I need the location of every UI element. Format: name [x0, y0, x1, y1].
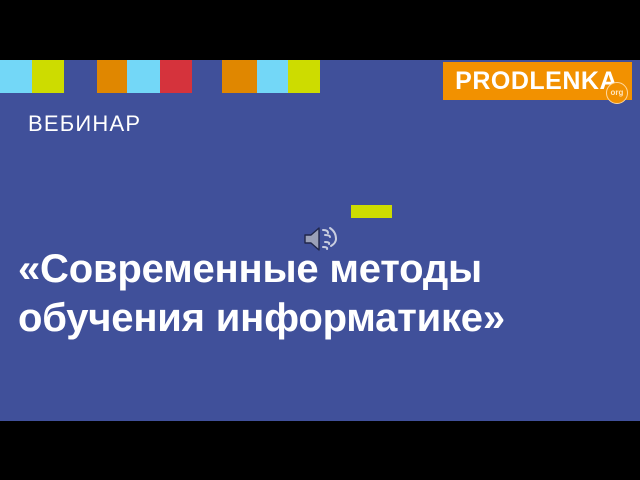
video-slide-frame: PRODLENKA org ВЕБИНАР «Современные метод… — [0, 0, 640, 480]
logo-org-badge: org — [606, 82, 628, 104]
presentation-slide: PRODLENKA org ВЕБИНАР «Современные метод… — [0, 60, 640, 421]
slide-eyebrow-label: ВЕБИНАР — [28, 111, 141, 137]
block-orange-1 — [97, 60, 127, 93]
block-yellow-2 — [288, 60, 320, 93]
logo-wordmark: PRODLENKA — [455, 69, 618, 94]
prodlenka-logo: PRODLENKA org — [443, 62, 632, 100]
slide-headline: «Современные методы обучения информатике… — [18, 245, 618, 343]
block-red-1 — [160, 60, 192, 93]
accent-bar — [351, 205, 392, 218]
block-orange-2 — [222, 60, 257, 93]
letterbox-top — [0, 0, 640, 60]
block-yellow-1 — [32, 60, 64, 93]
block-cyan-2 — [127, 60, 160, 93]
letterbox-bottom — [0, 421, 640, 480]
block-cyan-3 — [257, 60, 288, 93]
block-cyan-1 — [0, 60, 32, 93]
headline-line-1: «Современные методы — [18, 245, 618, 294]
headline-line-2: обучения информатике» — [18, 294, 618, 343]
